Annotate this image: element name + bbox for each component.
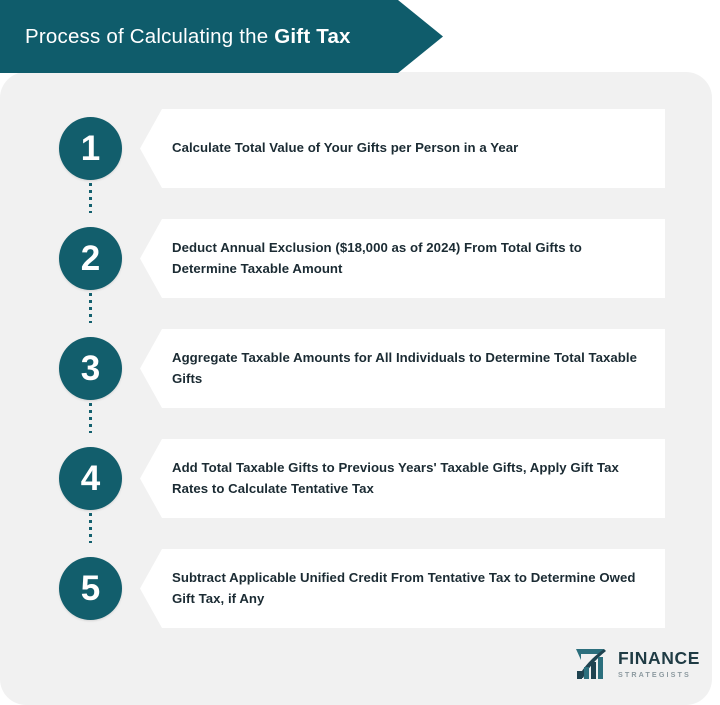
- step-number-badge-2: 2: [59, 227, 122, 290]
- chart-arrow-logo-icon: [573, 647, 613, 681]
- step-number-badge-1: 1: [59, 117, 122, 180]
- step-connector-4: [89, 513, 92, 543]
- page-title-bold: Gift Tax: [274, 25, 350, 48]
- infographic-root: Process of Calculating the Gift Tax 1 Ca…: [0, 0, 720, 705]
- step-connector-3: [89, 403, 92, 433]
- step-item-4: 4 Add Total Taxable Gifts to Previous Ye…: [0, 434, 720, 544]
- step-text-1: Calculate Total Value of Your Gifts per …: [140, 138, 534, 158]
- step-item-1: 1 Calculate Total Value of Your Gifts pe…: [0, 104, 720, 214]
- step-card-2: Deduct Annual Exclusion ($18,000 as of 2…: [140, 219, 665, 298]
- header-banner: Process of Calculating the Gift Tax: [0, 0, 443, 73]
- step-text-2: Deduct Annual Exclusion ($18,000 as of 2…: [140, 238, 665, 279]
- step-number-badge-3: 3: [59, 337, 122, 400]
- step-card-3: Aggregate Taxable Amounts for All Indivi…: [140, 329, 665, 408]
- step-item-5: 5 Subtract Applicable Unified Credit Fro…: [0, 544, 720, 654]
- step-item-3: 3 Aggregate Taxable Amounts for All Indi…: [0, 324, 720, 434]
- step-card-4: Add Total Taxable Gifts to Previous Year…: [140, 439, 665, 518]
- logo-tagline: STRATEGISTS: [618, 671, 700, 678]
- step-card-5: Subtract Applicable Unified Credit From …: [140, 549, 665, 628]
- step-text-3: Aggregate Taxable Amounts for All Indivi…: [140, 348, 665, 389]
- steps-list: 1 Calculate Total Value of Your Gifts pe…: [0, 104, 720, 654]
- page-title-normal: Process of Calculating the: [25, 25, 274, 48]
- step-connector-1: [89, 183, 92, 213]
- logo-wordmark: FINANCE STRATEGISTS: [618, 650, 700, 678]
- finance-strategists-logo: FINANCE STRATEGISTS: [573, 645, 693, 683]
- step-number-badge-5: 5: [59, 557, 122, 620]
- logo-name: FINANCE: [618, 650, 700, 668]
- step-text-4: Add Total Taxable Gifts to Previous Year…: [140, 458, 665, 499]
- step-text-5: Subtract Applicable Unified Credit From …: [140, 568, 665, 609]
- step-number-badge-4: 4: [59, 447, 122, 510]
- step-connector-2: [89, 293, 92, 323]
- page-title: Process of Calculating the Gift Tax: [0, 25, 351, 49]
- step-card-1: Calculate Total Value of Your Gifts per …: [140, 109, 665, 188]
- step-item-2: 2 Deduct Annual Exclusion ($18,000 as of…: [0, 214, 720, 324]
